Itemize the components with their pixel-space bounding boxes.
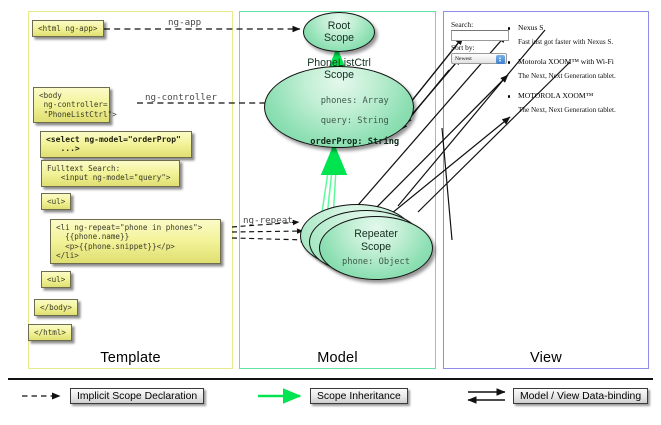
code-box-html: <html ng-app>	[32, 20, 104, 37]
scope-repeater-line1: Repeater	[354, 228, 398, 240]
view-rendered-app: Search: Sort by: Newest Nexus S Fast jus…	[449, 17, 644, 357]
view-sort-label: Sort by:	[451, 43, 475, 52]
list-item[interactable]: Motorola XOOM™ with Wi-Fi The Next, Next…	[508, 57, 642, 81]
phone-name: Nexus S	[518, 23, 642, 32]
scope-ctrl-prop-orderprop: orderProp: String	[310, 137, 399, 147]
code-box-li-ng-repeat: <li ng-repeat="phone in phones"> {{phone…	[50, 219, 221, 264]
view-sort-select[interactable]: Newest	[451, 53, 507, 64]
bullet-icon	[508, 27, 510, 29]
code-box-ul-open: <ul>	[41, 193, 71, 210]
list-item[interactable]: Nexus S Fast just got faster with Nexus …	[508, 23, 642, 47]
scope-repeater-props: phone: Object	[342, 257, 410, 267]
panel-label-template: Template	[29, 350, 232, 366]
scope-repeater: Repeater Scope phone: Object	[319, 216, 433, 280]
code-box-body-close: </body>	[34, 299, 78, 316]
scope-ctrl-prop-query: query: String	[321, 116, 389, 126]
scope-root: Root Scope	[303, 12, 375, 52]
scope-repeater-line2: Scope	[361, 241, 391, 253]
edge-label-ng-app: ng-app	[168, 17, 201, 28]
code-box-select: <select ng-model="orderProp" ...>	[40, 131, 192, 158]
bullet-icon	[508, 61, 510, 63]
code-box-body: <body ng-controller= "PhoneListCtrl">	[33, 87, 110, 123]
list-item[interactable]: MOTOROLA XOOM™ The Next, Next Generation…	[508, 91, 642, 115]
scope-ctrl-prop-phones: phones: Array	[321, 96, 389, 106]
view-phone-list: Nexus S Fast just got faster with Nexus …	[508, 23, 642, 125]
edge-label-ng-repeat: ng-repeat	[243, 215, 293, 226]
phone-snippet: Fast just got faster with Nexus S.	[518, 38, 642, 47]
code-box-search-input: Fulltext Search: <input ng-model="query"…	[41, 160, 180, 187]
code-box-html-close: </html>	[28, 324, 72, 341]
scope-root-line1: Root	[328, 20, 350, 32]
view-sort-selected-value: Newest	[455, 56, 472, 62]
scope-ctrl-line2: Scope	[324, 69, 354, 81]
phone-snippet: The Next, Next Generation tablet.	[518, 106, 642, 115]
scope-phonelistctrl: PhoneListCtrl Scope phones: Array query:…	[264, 66, 414, 148]
legend-label-implicit: Implicit Scope Declaration	[70, 388, 204, 404]
phone-snippet: The Next, Next Generation tablet.	[518, 72, 642, 81]
legend-divider	[8, 378, 653, 380]
view-search-input[interactable]	[451, 30, 509, 41]
bullet-icon	[508, 95, 510, 97]
legend-label-binding: Model / View Data-binding	[513, 388, 648, 404]
phone-name: Motorola XOOM™ with Wi-Fi	[518, 57, 642, 66]
scope-root-line2: Scope	[324, 32, 354, 44]
scope-ctrl-line1: PhoneListCtrl	[307, 57, 371, 69]
phone-name: MOTOROLA XOOM™	[518, 91, 642, 100]
legend-label-inheritance: Scope Inheritance	[310, 388, 408, 404]
code-box-ul-close: <ul>	[41, 271, 71, 288]
view-search-label: Search:	[451, 20, 473, 29]
scope-ctrl-props: phones: Array query: String orderProp: S…	[279, 86, 399, 157]
chevron-updown-icon[interactable]	[496, 55, 505, 64]
diagram-canvas: Template Model View	[0, 0, 661, 425]
panel-label-model: Model	[240, 350, 435, 366]
edge-label-ng-controller: ng-controller	[145, 92, 217, 103]
